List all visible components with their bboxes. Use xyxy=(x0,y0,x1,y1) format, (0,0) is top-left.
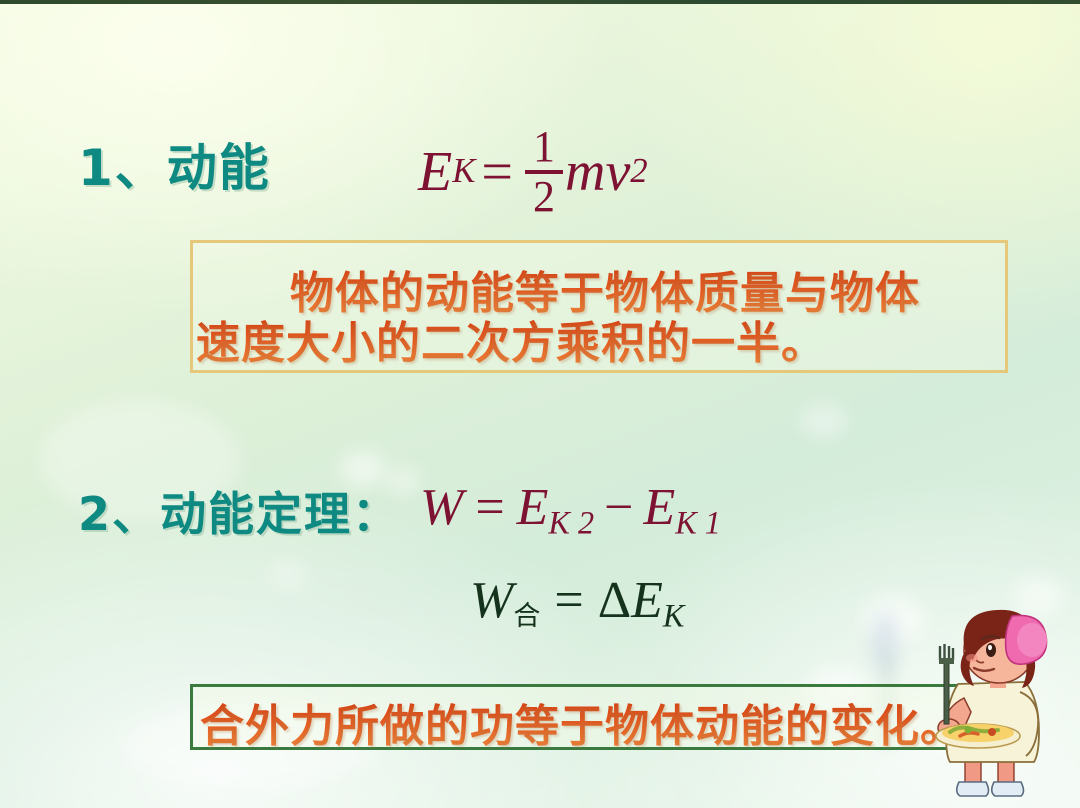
formula-ke-equals: = xyxy=(481,144,513,200)
formula-wk-term2-subscript: K 1 xyxy=(675,505,721,541)
formula-wk-minus: − xyxy=(604,479,633,536)
kinetic-energy-statement-line-2: 速度大小的二次方乘积的一半。 xyxy=(196,307,826,371)
formula-wk-term2: E xyxy=(643,479,675,536)
formula-wk-term1-subscript: K 2 xyxy=(548,505,594,541)
section-2-heading: 2、动能定理： xyxy=(78,478,400,544)
formula-wnet-lhs: W xyxy=(470,572,513,629)
formula-ke-velocity: v xyxy=(605,144,630,200)
formula-wk-lhs: W xyxy=(420,479,463,536)
slide-canvas: 1、动能 EK = 1 2 mv2 物体的动能等于物体质量与物体 速度大小的二次… xyxy=(0,0,1080,808)
section-1-heading: 1、动能 xyxy=(78,128,271,200)
background-bud-blur xyxy=(872,612,898,672)
formula-ke-denominator: 2 xyxy=(533,175,555,218)
formula-wnet-rhs: E xyxy=(631,572,663,629)
net-work-formula: W合=ΔEK xyxy=(470,575,684,632)
background-flower-blur-7 xyxy=(1012,576,1064,616)
formula-wnet-delta: Δ xyxy=(598,572,631,629)
background-flower-blur-3 xyxy=(268,560,308,590)
background-flower-blur-5 xyxy=(862,596,924,644)
formula-wnet-equals: = xyxy=(554,572,583,629)
formula-ke-numerator: 1 xyxy=(533,125,555,168)
formula-ke-mass: m xyxy=(565,144,605,200)
formula-ke-fraction: 1 2 xyxy=(525,125,563,218)
top-border-band xyxy=(0,0,1080,4)
formula-wnet-rhs-subscript: K xyxy=(663,598,685,634)
work-energy-statement-line: 合外力所做的功等于物体动能的变化。 xyxy=(200,690,965,754)
work-energy-theorem-formula: W=EK 2−EK 1 xyxy=(420,482,721,539)
formula-wk-equals: = xyxy=(475,479,504,536)
formula-ke-velocity-exponent: 2 xyxy=(630,154,647,189)
formula-wnet-lhs-subscript: 合 xyxy=(513,601,540,632)
formula-ke-lhs-subscript: K xyxy=(452,154,475,189)
kinetic-energy-formula: EK = 1 2 mv2 xyxy=(418,125,648,218)
formula-wk-term1: E xyxy=(517,479,549,536)
background-flower-blur-4 xyxy=(800,404,848,438)
formula-ke-lhs: E xyxy=(418,144,452,200)
